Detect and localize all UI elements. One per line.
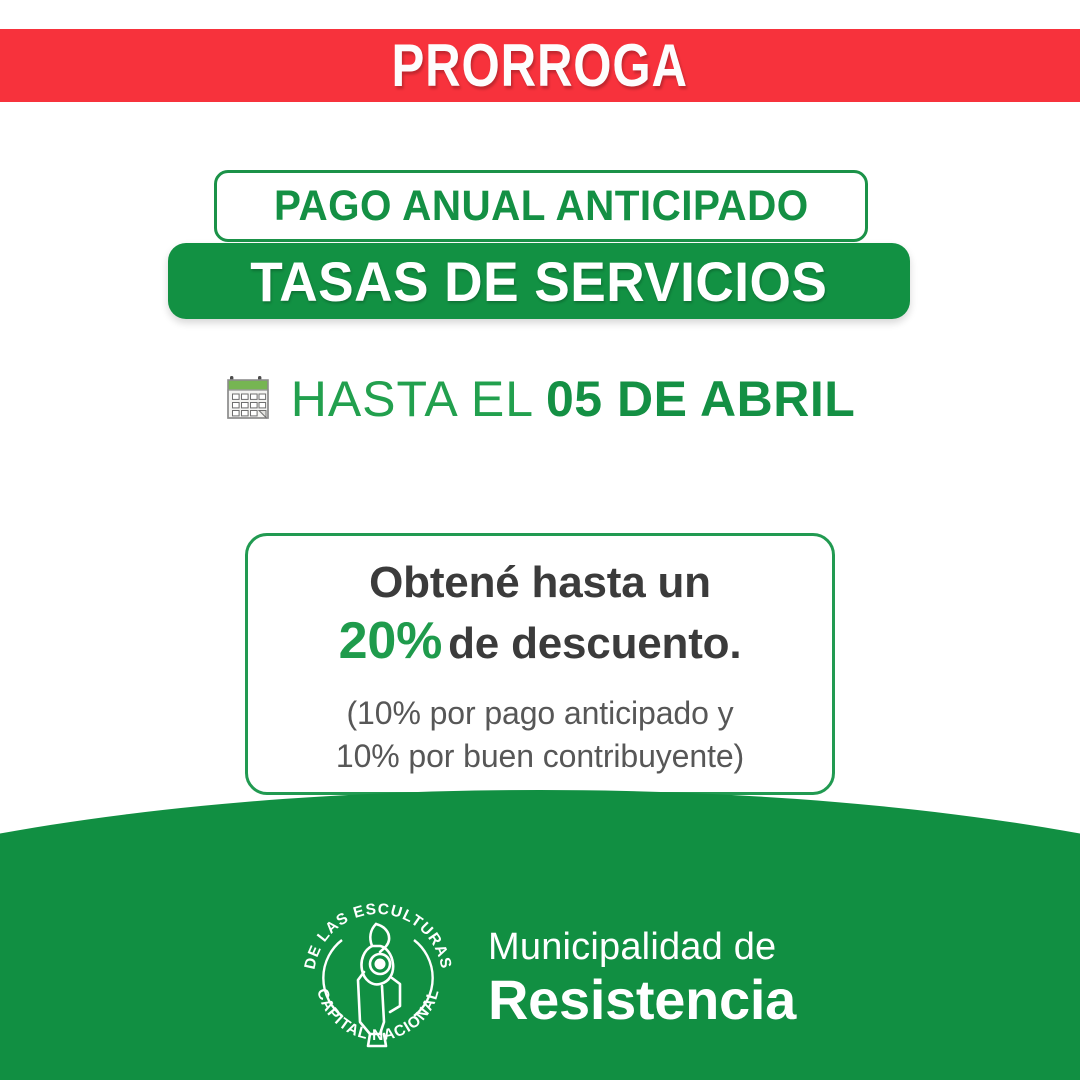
prorroga-banner: PRORROGA — [0, 29, 1080, 102]
discount-note: (10% por pago anticipado y 10% por buen … — [336, 692, 744, 776]
brand-lockup: Municipalidad de Resistencia — [488, 928, 796, 1028]
discount-note-line1: (10% por pago anticipado y — [336, 692, 744, 734]
discount-line1: Obtené hasta un — [369, 557, 711, 609]
deadline-value: 05 DE ABRIL — [546, 371, 855, 427]
poster-canvas: PRORROGA PAGO ANUAL ANTICIPADO TASAS DE … — [0, 0, 1080, 1080]
heading-line1: PAGO ANUAL ANTICIPADO — [274, 182, 809, 231]
calendar-icon — [225, 373, 275, 425]
brand-top-line: Municipalidad de — [488, 928, 796, 966]
heading-plate-stack: PAGO ANUAL ANTICIPADO TASAS DE SERVICIOS — [0, 170, 1080, 325]
deadline-text: HASTA EL05 DE ABRIL — [291, 370, 856, 428]
heading-outline-plate: PAGO ANUAL ANTICIPADO — [214, 170, 868, 242]
discount-percent: 20% — [339, 612, 442, 670]
footer-brand-bar: DE LAS ESCULTURAS CAPITAL NACIONAL — [0, 875, 1080, 1080]
discount-card: Obtené hasta un 20%de descuento. (10% po… — [245, 533, 835, 795]
heading-line2: TASAS DE SERVICIOS — [250, 249, 827, 314]
discount-line2: 20%de descuento. — [339, 611, 742, 672]
banner-title: PRORROGA — [392, 31, 688, 100]
discount-line2-rest: de descuento. — [448, 619, 741, 668]
discount-note-line2: 10% por buen contribuyente) — [336, 735, 744, 777]
heading-solid-plate: TASAS DE SERVICIOS — [168, 243, 910, 319]
municipal-seal-icon: DE LAS ESCULTURAS CAPITAL NACIONAL — [294, 894, 462, 1062]
svg-text:CAPITAL NACIONAL: CAPITAL NACIONAL — [313, 986, 443, 1043]
deadline-prefix: HASTA EL — [291, 371, 534, 427]
deadline-row: HASTA EL05 DE ABRIL — [0, 370, 1080, 428]
brand-main-line: Resistencia — [488, 972, 796, 1028]
